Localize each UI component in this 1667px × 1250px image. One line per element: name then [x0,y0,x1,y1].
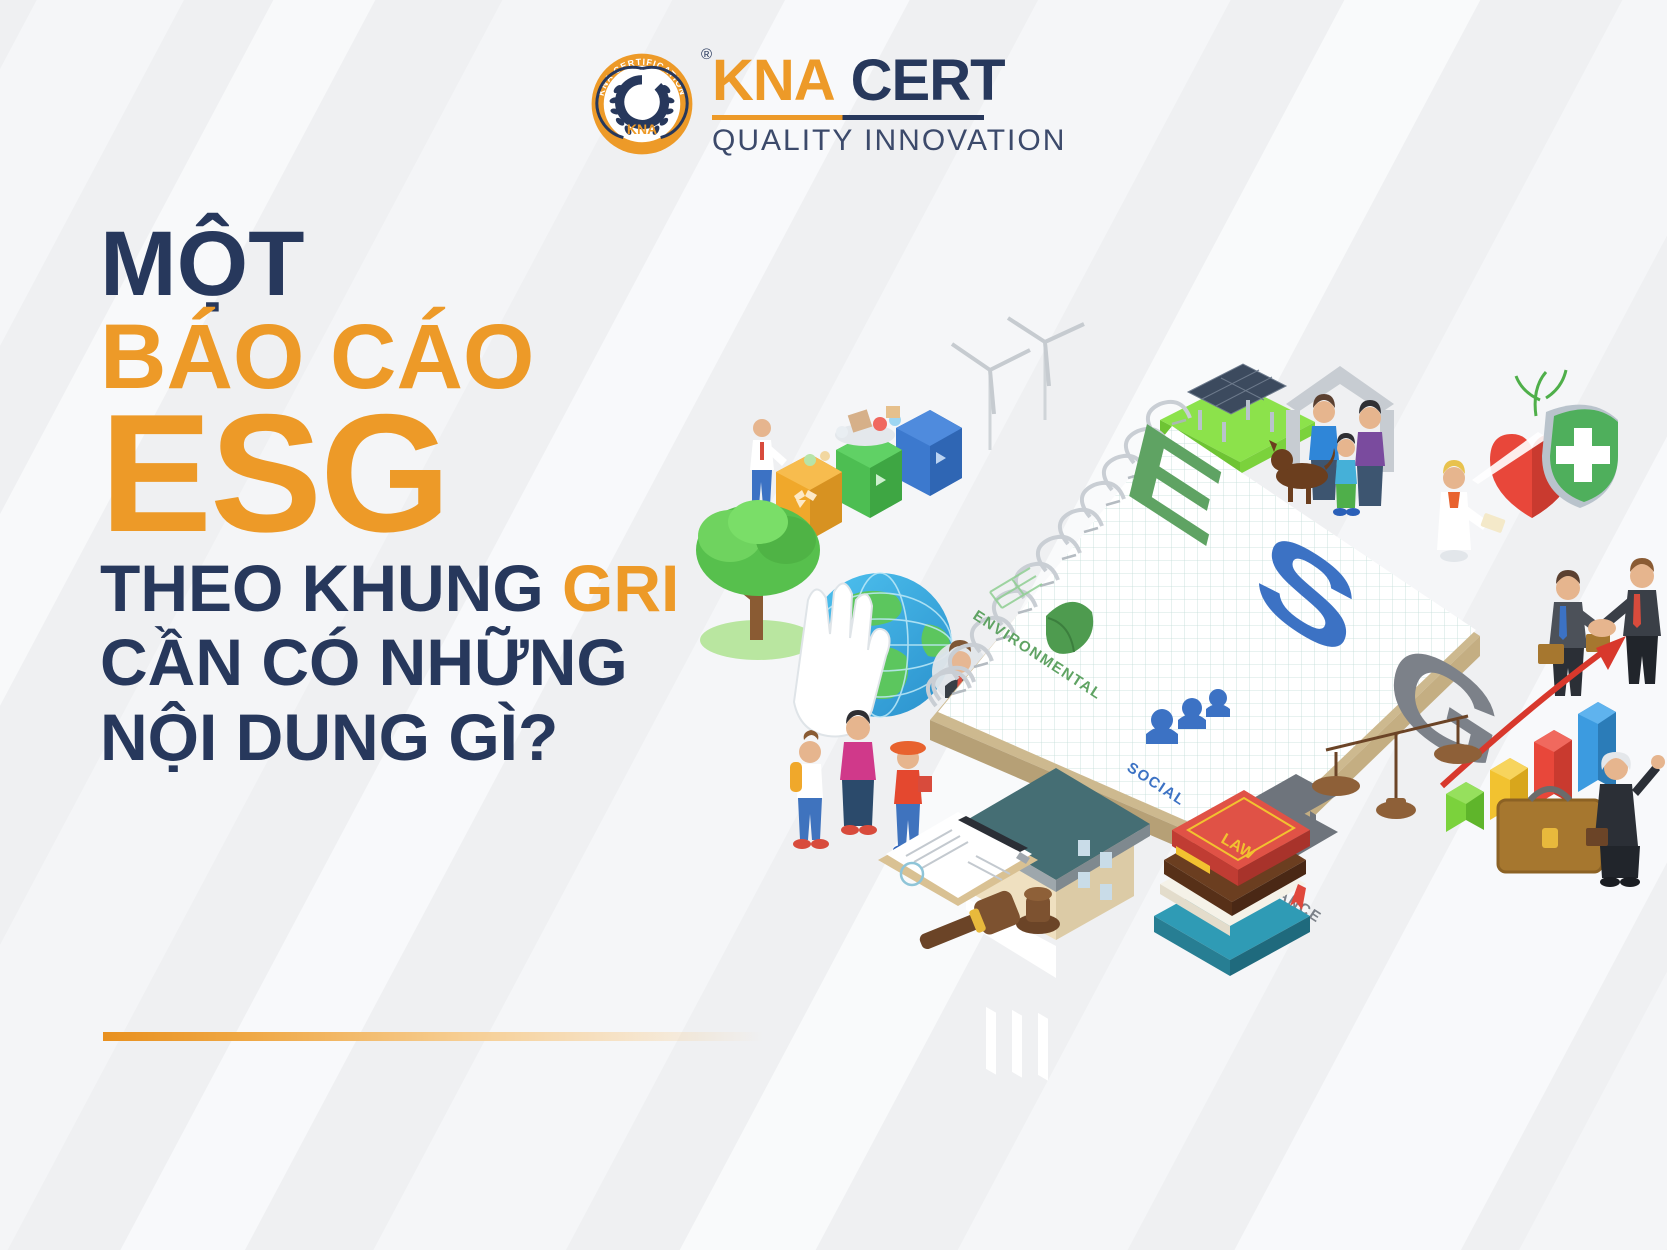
registered-mark-icon: ® [701,46,712,63]
kna-cert-wordmark: KNA CERT QUALITY INNOVATION [712,52,1066,156]
wind-turbine [952,344,1030,450]
heart-shield-cross-icon [1472,370,1618,518]
headline-line-4-accent: GRI [562,551,679,625]
wordmark-kna: KNA [712,52,835,110]
people-group-standing [790,710,932,855]
wordmark-tagline: QUALITY INNOVATION [712,126,1066,156]
family-under-house-icon [1269,366,1394,516]
tree-icon [696,500,820,660]
recycling-bin-blue [896,410,962,496]
kna-certification-badge-icon: KNA CERTIFICATION QUALITY INNOVATION [586,48,698,160]
headline-underline-bar [103,1032,763,1041]
badge-center-text: KNA [627,121,657,137]
wind-turbine [1008,318,1084,420]
headline-line-1: MỘT [100,222,800,307]
wordmark-cert: CERT [851,52,1005,110]
handshake-businessmen-icon [1538,558,1661,696]
wordmark-divider-rule [712,115,984,120]
poster-canvas: KNA CERTIFICATION QUALITY INNOVATION [0,0,1667,1250]
esg-illustration: E S G ENVIRONMENTAL [690,300,1650,940]
headline-line-4-prefix: THEO KHUNG [100,551,562,625]
kna-cert-logo: KNA CERTIFICATION QUALITY INNOVATION [586,48,1066,160]
